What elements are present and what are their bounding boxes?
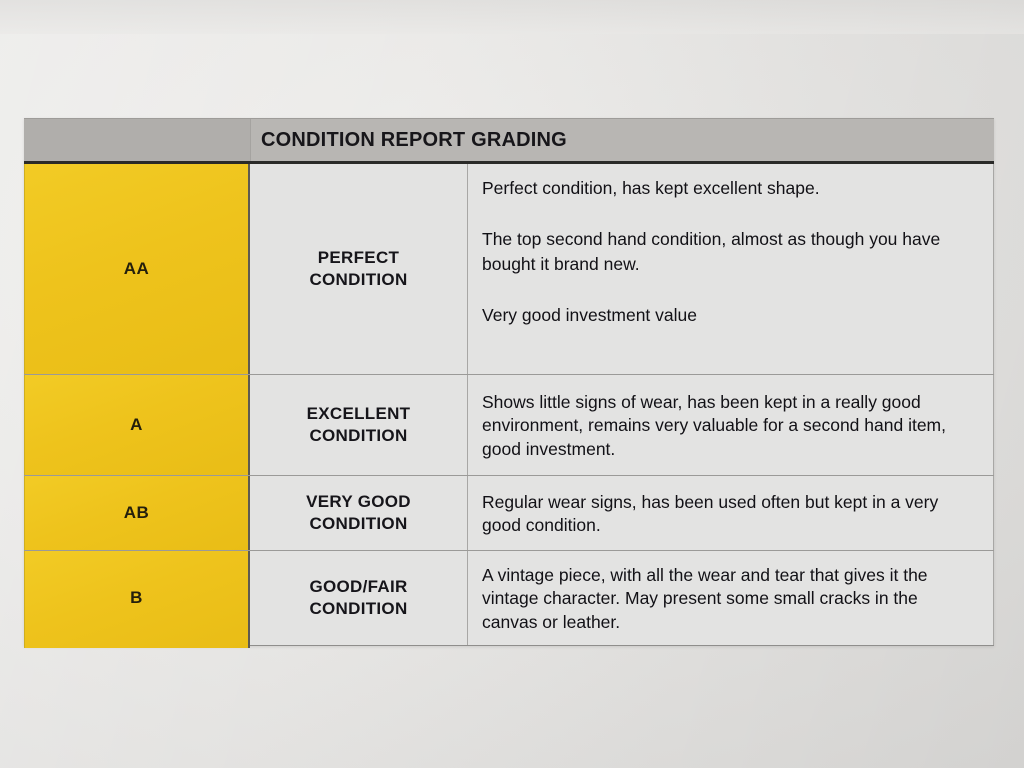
condition-label: EXCELLENT CONDITION bbox=[307, 403, 411, 447]
table-row: B GOOD/FAIR CONDITION A vintage piece, w… bbox=[24, 551, 994, 646]
paper-top-shadow bbox=[0, 0, 1024, 34]
description-cell-ab: Regular wear signs, has been used often … bbox=[468, 476, 994, 550]
description-cell-a: Shows little signs of wear, has been kep… bbox=[468, 375, 994, 475]
grade-cell-aa: AA bbox=[24, 164, 250, 374]
condition-report-grading-table: CONDITION REPORT GRADING AA PERFECT COND… bbox=[24, 118, 994, 646]
condition-label: VERY GOOD CONDITION bbox=[306, 491, 411, 535]
grade-label: AA bbox=[124, 259, 150, 279]
table-header-left-spacer bbox=[24, 119, 251, 161]
table-header-title-cell: CONDITION REPORT GRADING bbox=[251, 119, 994, 161]
grade-label: B bbox=[130, 588, 143, 608]
description-text: A vintage piece, with all the wear and t… bbox=[482, 564, 977, 633]
table-row: AA PERFECT CONDITION Perfect condition, … bbox=[24, 164, 994, 375]
description-text: Regular wear signs, has been used often … bbox=[482, 491, 977, 537]
grade-cell-ab: AB bbox=[24, 476, 250, 550]
condition-label: GOOD/FAIR CONDITION bbox=[309, 576, 407, 620]
grade-cell-b: B bbox=[24, 551, 250, 648]
table-header-band: CONDITION REPORT GRADING bbox=[24, 118, 994, 164]
page-title: CONDITION REPORT GRADING bbox=[261, 129, 567, 152]
table-row: A EXCELLENT CONDITION Shows little signs… bbox=[24, 375, 994, 476]
description-cell-aa: Perfect condition, has kept excellent sh… bbox=[468, 164, 994, 374]
table-row: AB VERY GOOD CONDITION Regular wear sign… bbox=[24, 476, 994, 551]
condition-label-cell-aa: PERFECT CONDITION bbox=[250, 164, 468, 374]
condition-label-cell-a: EXCELLENT CONDITION bbox=[250, 375, 468, 475]
grade-label: AB bbox=[124, 503, 150, 523]
grade-cell-a: A bbox=[24, 375, 250, 475]
description-text: Shows little signs of wear, has been kep… bbox=[482, 391, 977, 460]
description-text: Perfect condition, has kept excellent sh… bbox=[482, 176, 977, 328]
condition-label-cell-ab: VERY GOOD CONDITION bbox=[250, 476, 468, 550]
condition-label: PERFECT CONDITION bbox=[309, 247, 407, 291]
description-cell-b: A vintage piece, with all the wear and t… bbox=[468, 551, 994, 645]
condition-label-cell-b: GOOD/FAIR CONDITION bbox=[250, 551, 468, 645]
grade-label: A bbox=[130, 415, 143, 435]
